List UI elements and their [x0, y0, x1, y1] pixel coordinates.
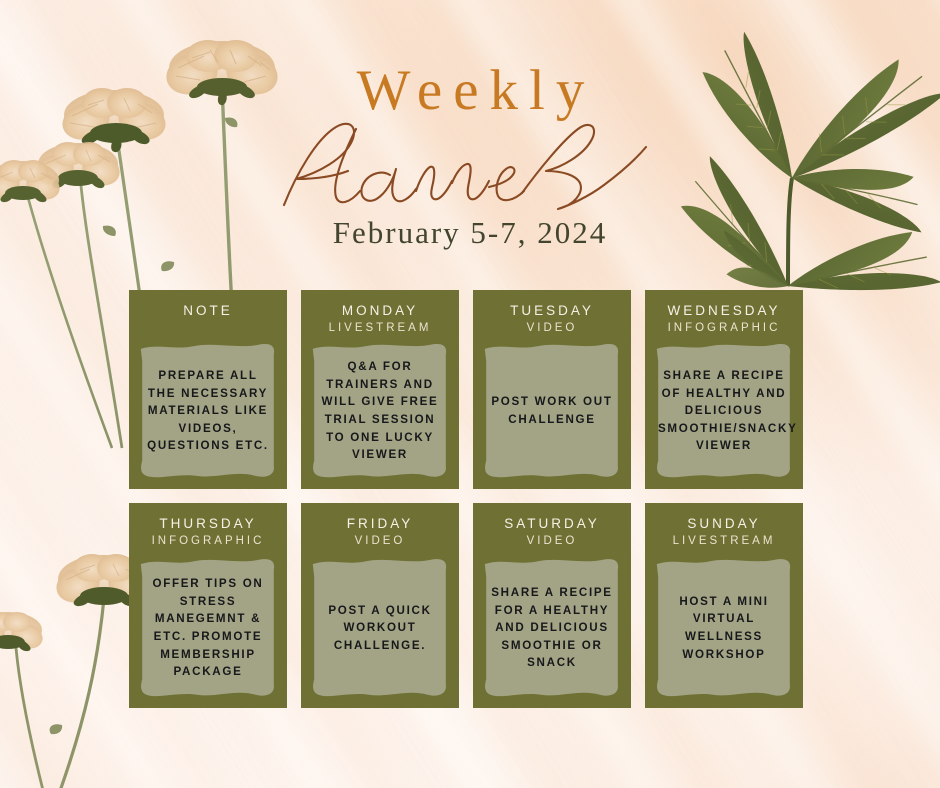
card-day-label: WEDNESDAY: [645, 303, 803, 320]
card-day-label: SUNDAY: [645, 516, 803, 533]
card-panel: SHARE A RECIPE FOR A HEALTHY AND DELICIO…: [482, 557, 622, 699]
planner-grid: NOTE PREPARE ALL THE NECESSARY MATERIALS…: [129, 290, 804, 708]
card-body-text: OFFER TIPS ON STRESS MANEGEMNT & ETC. PR…: [138, 569, 278, 687]
card-panel: Q&A FOR TRAINERS AND WILL GIVE FREE TRIA…: [310, 342, 450, 480]
card-body-text: Q&A FOR TRAINERS AND WILL GIVE FREE TRIA…: [310, 352, 450, 470]
card-type-label: VIDEO: [301, 534, 459, 549]
card-tuesday[interactable]: TUESDAY VIDEO POST WORK OUT CHALLENGE: [473, 290, 631, 489]
card-body-text: HOST A MINI VIRTUAL WELLNESS WORKSHOP: [654, 587, 794, 669]
planner-script-lettering: [270, 113, 670, 221]
card-panel: HOST A MINI VIRTUAL WELLNESS WORKSHOP: [654, 557, 794, 699]
page-title-planner: [0, 113, 940, 221]
card-type-label: LIVESTREAM: [301, 321, 459, 336]
weekly-planner-poster: Weekly: [0, 0, 940, 788]
card-panel: SHARE A RECIPE OF HEALTHY AND DELICIOUS …: [654, 342, 794, 480]
card-sunday[interactable]: SUNDAY LIVESTREAM HOST A MINI VIRTUAL WE…: [645, 503, 803, 708]
card-body-text: POST WORK OUT CHALLENGE: [482, 387, 622, 434]
card-day-label: THURSDAY: [129, 516, 287, 533]
card-wednesday[interactable]: WEDNESDAY INFOGRAPHIC SHARE A RECIPE OF …: [645, 290, 803, 489]
card-note[interactable]: NOTE PREPARE ALL THE NECESSARY MATERIALS…: [129, 290, 287, 489]
card-body-text: SHARE A RECIPE OF HEALTHY AND DELICIOUS …: [654, 361, 794, 461]
card-day-label: TUESDAY: [473, 303, 631, 320]
card-type-label: [129, 321, 287, 336]
card-type-label: INFOGRAPHIC: [129, 534, 287, 549]
card-day-label: FRIDAY: [301, 516, 459, 533]
card-panel: POST A QUICK WORKOUT CHALLENGE.: [310, 557, 450, 699]
card-day-label: SATURDAY: [473, 516, 631, 533]
card-type-label: VIDEO: [473, 321, 631, 336]
card-monday[interactable]: MONDAY LIVESTREAM Q&A FOR TRAINERS AND W…: [301, 290, 459, 489]
card-body-text: POST A QUICK WORKOUT CHALLENGE.: [310, 596, 450, 661]
card-body-text: SHARE A RECIPE FOR A HEALTHY AND DELICIO…: [482, 578, 622, 678]
card-thursday[interactable]: THURSDAY INFOGRAPHIC OFFER TIPS ON STRES…: [129, 503, 287, 708]
card-type-label: VIDEO: [473, 534, 631, 549]
card-panel: POST WORK OUT CHALLENGE: [482, 342, 622, 480]
card-panel: OFFER TIPS ON STRESS MANEGEMNT & ETC. PR…: [138, 557, 278, 699]
card-day-label: MONDAY: [301, 303, 459, 320]
card-friday[interactable]: FRIDAY VIDEO POST A QUICK WORKOUT CHALLE…: [301, 503, 459, 708]
poster-header: Weekly: [0, 62, 940, 251]
card-panel: PREPARE ALL THE NECESSARY MATERIALS LIKE…: [138, 342, 278, 480]
page-title-weekly: Weekly: [12, 62, 940, 119]
card-type-label: INFOGRAPHIC: [645, 321, 803, 336]
card-type-label: LIVESTREAM: [645, 534, 803, 549]
card-body-text: PREPARE ALL THE NECESSARY MATERIALS LIKE…: [138, 361, 278, 461]
card-saturday[interactable]: SATURDAY VIDEO SHARE A RECIPE FOR A HEAL…: [473, 503, 631, 708]
card-day-label: NOTE: [129, 303, 287, 320]
